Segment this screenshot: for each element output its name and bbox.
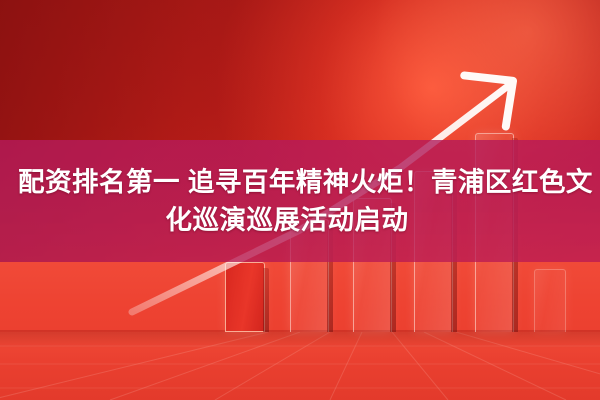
headline-line-2: 化巡演巡展活动启动: [12, 201, 588, 239]
headline-line-1: 配资排名第一 追寻百年精神火炬！青浦区红色文: [12, 163, 588, 201]
promo-banner: 配资排名第一 追寻百年精神火炬！青浦区红色文 化巡演巡展活动启动: [0, 0, 600, 400]
headline-block: 配资排名第一 追寻百年精神火炬！青浦区红色文 化巡演巡展活动启动: [0, 140, 600, 262]
